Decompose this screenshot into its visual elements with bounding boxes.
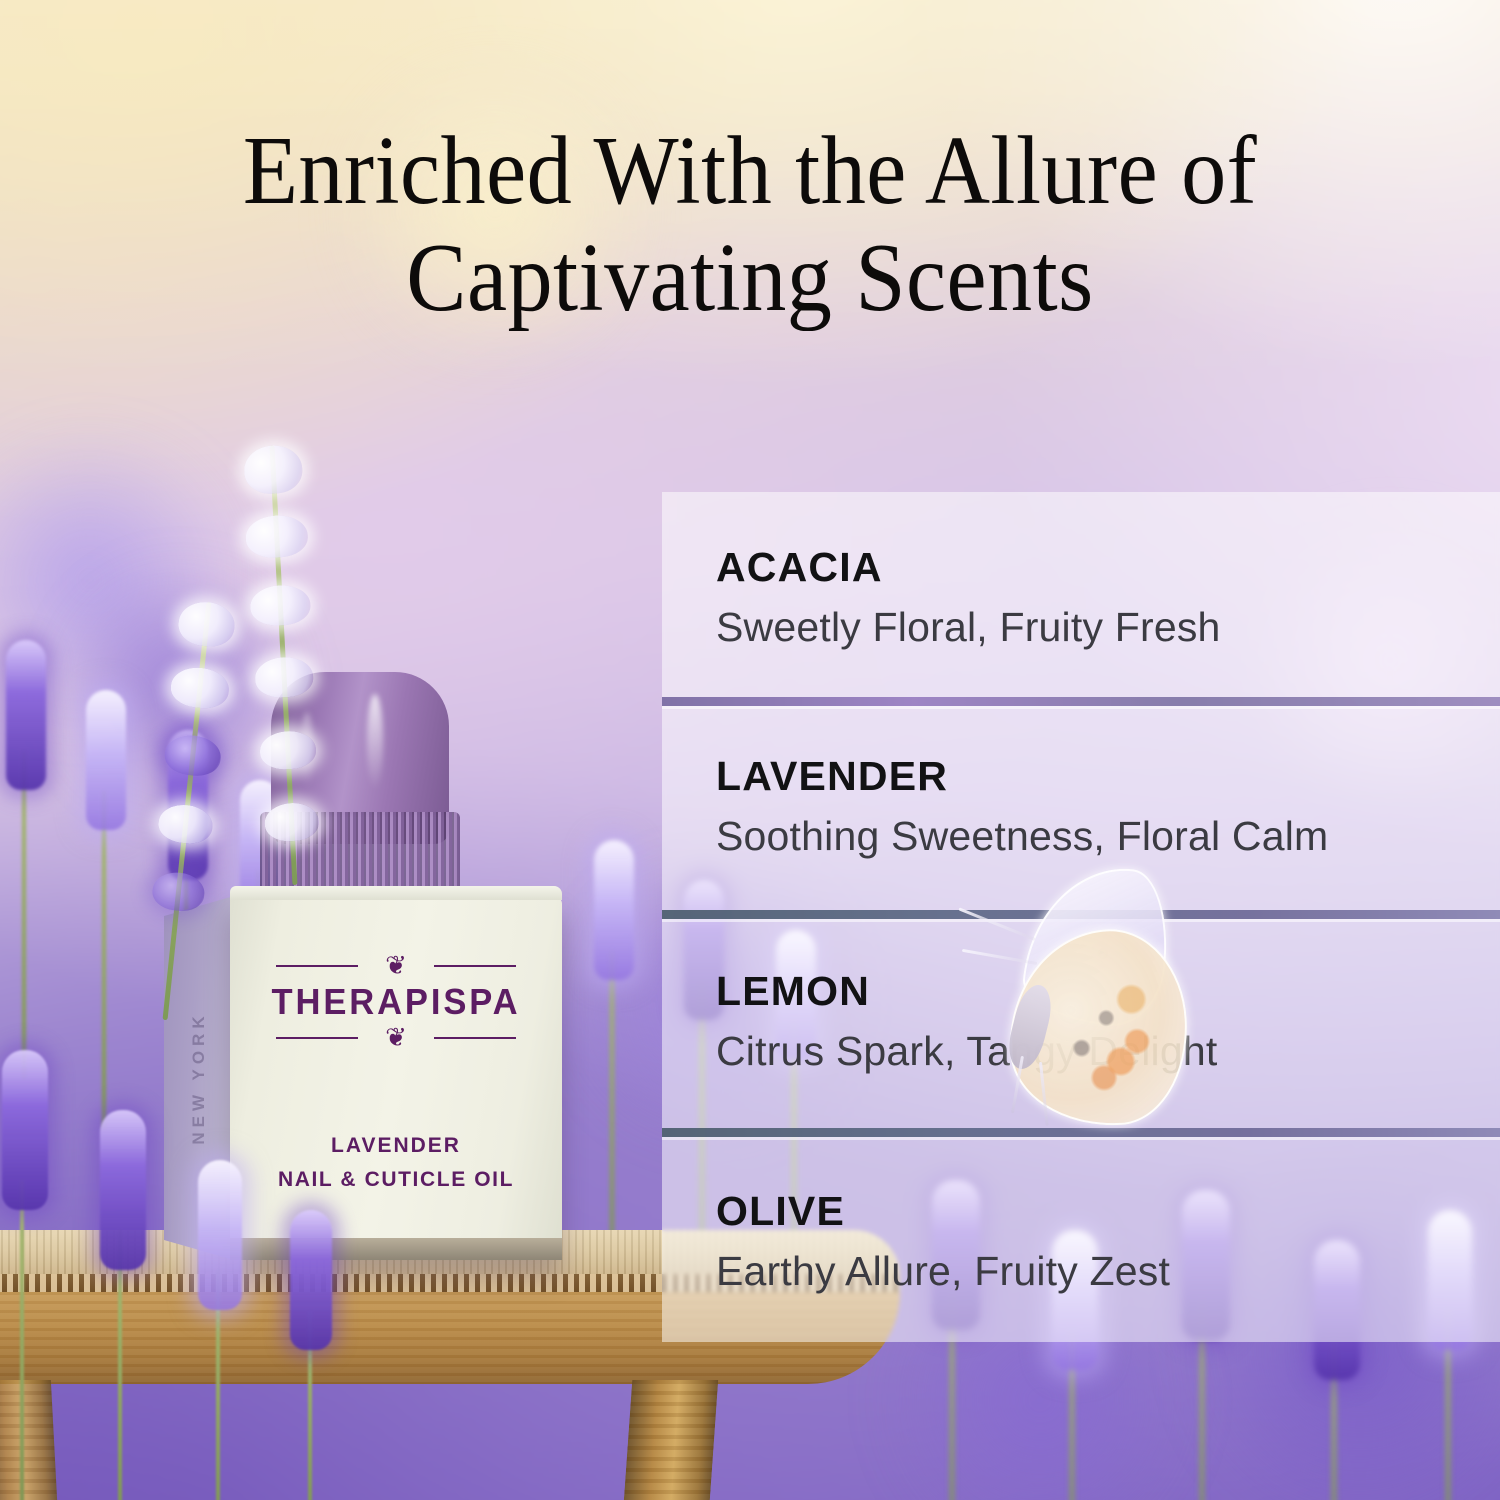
scent-name: LAVENDER — [716, 753, 948, 800]
scent-description: Sweetly Floral, Fruity Fresh — [716, 604, 1221, 651]
cap-highlight — [367, 694, 383, 790]
scent-row[interactable]: ACACIA Sweetly Floral, Fruity Fresh — [662, 492, 1500, 705]
scent-name: OLIVE — [716, 1188, 845, 1235]
lavender-floret — [169, 665, 231, 711]
lavender-floret — [163, 733, 223, 779]
ornament-top-icon: ❦ — [276, 952, 515, 978]
page-headline: Enriched With the Allure of Captivating … — [53, 118, 1448, 331]
bottle-top-face — [230, 886, 562, 900]
lavender-floret — [259, 730, 317, 771]
ornament-glyph: ❦ — [385, 952, 407, 978]
lavender-floret — [254, 656, 314, 699]
headline-line-2: Captivating Scents — [53, 225, 1448, 332]
bench-leg — [608, 1380, 718, 1500]
scent-row[interactable]: OLIVE Earthy Allure, Fruity Zest — [662, 1136, 1500, 1342]
lavender-floret — [245, 514, 309, 559]
lavender-bush-foreground-left — [0, 1020, 380, 1500]
scent-name: LEMON — [716, 968, 870, 1015]
lavender-floret — [151, 870, 207, 913]
lavender-floret — [176, 599, 236, 649]
scent-description: Earthy Allure, Fruity Zest — [716, 1248, 1170, 1295]
lavender-floret — [264, 802, 320, 843]
product-marketing-image: NEW YORK ❦ THERAPISPA ❦ LAVENDER NAIL & … — [0, 0, 1500, 1500]
lavender-floret — [243, 444, 303, 495]
butterfly — [975, 866, 1210, 1146]
ornament-glyph: ❦ — [385, 1024, 407, 1050]
headline-line-1: Enriched With the Allure of — [243, 117, 1257, 224]
lavender-floret — [249, 584, 311, 627]
scent-name: ACACIA — [716, 544, 883, 591]
brand-name: THERAPISPA — [237, 981, 556, 1023]
scent-description: Soothing Sweetness, Floral Calm — [716, 813, 1328, 860]
lavender-floret — [157, 802, 215, 845]
